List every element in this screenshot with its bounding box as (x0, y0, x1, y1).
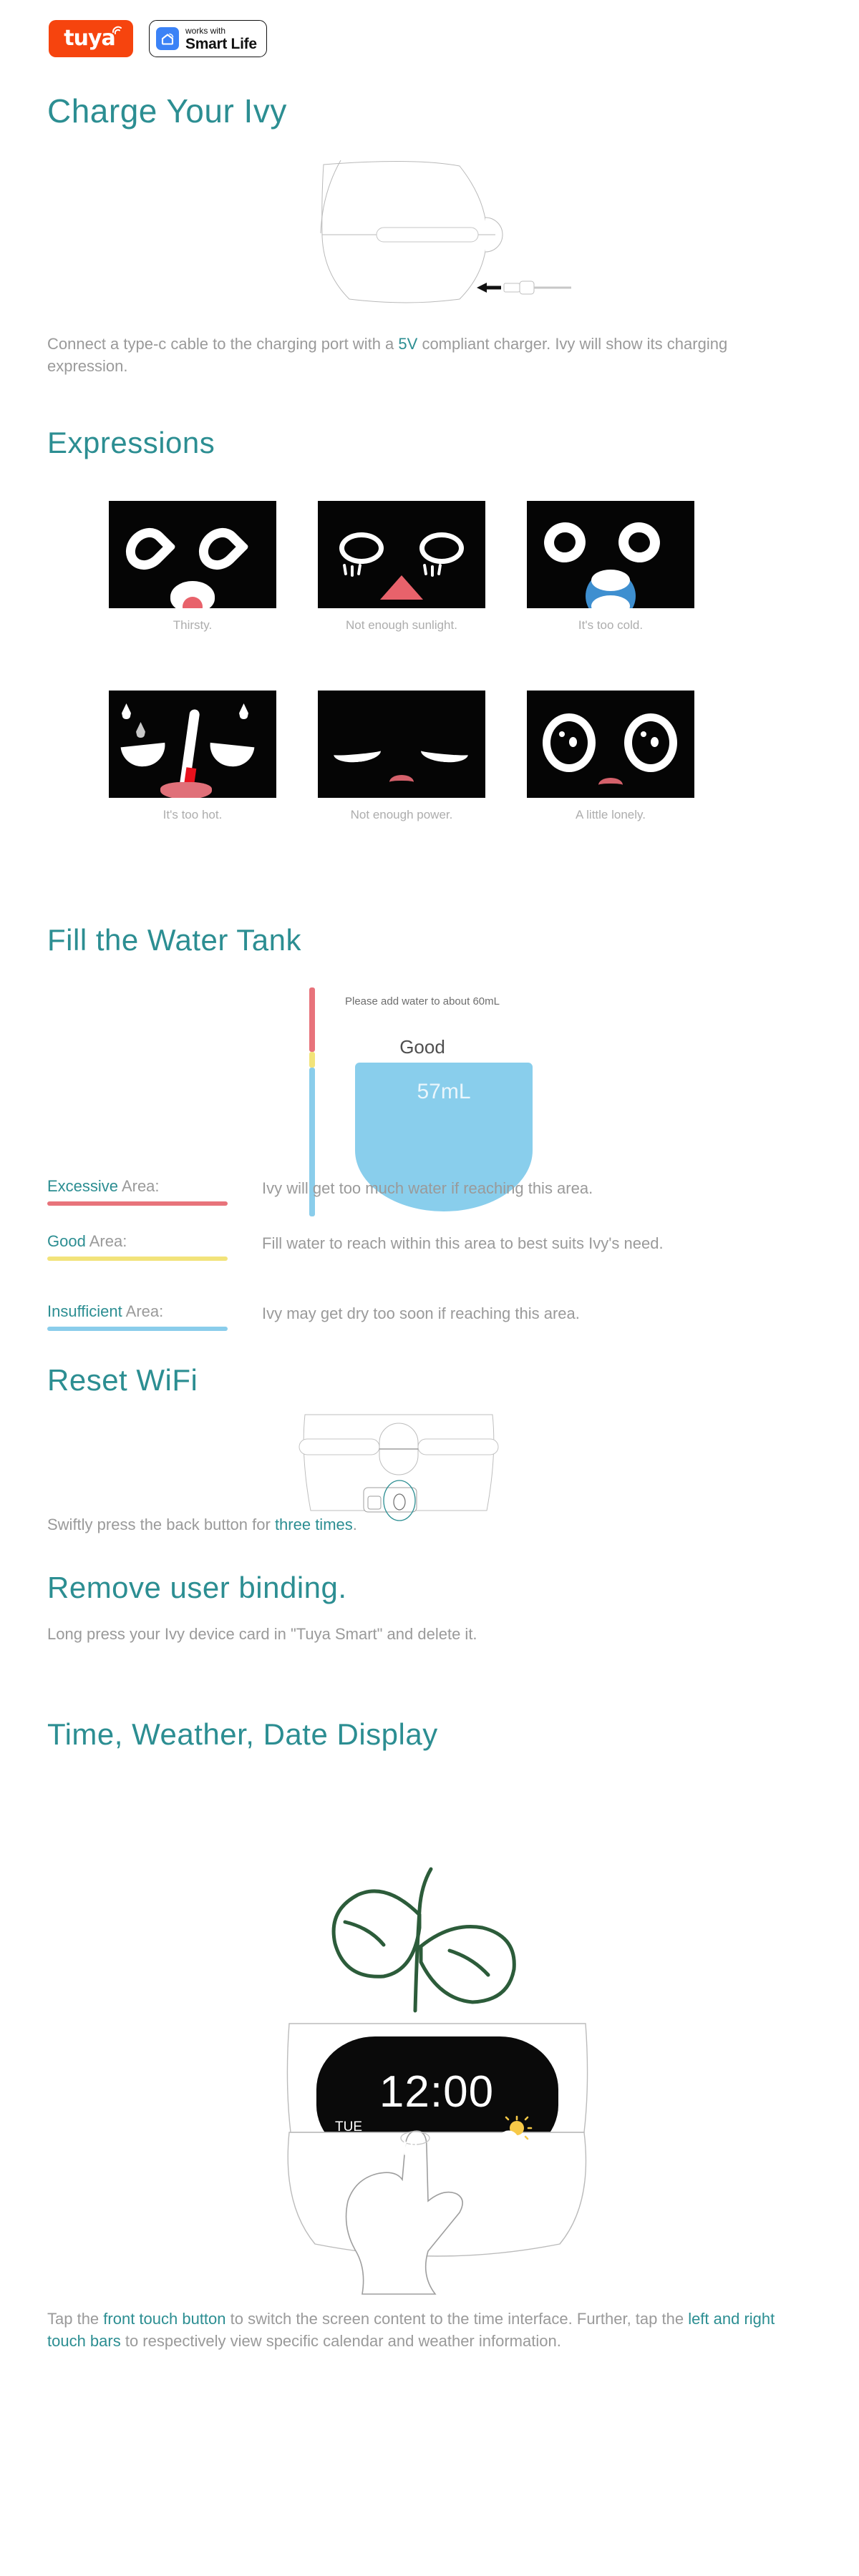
legend-accent: Excessive (47, 1177, 118, 1195)
legend-underline-excessive (47, 1201, 228, 1206)
lash-right-3 (437, 564, 442, 575)
closed-eye-left (333, 741, 382, 764)
legend-label-good: Good Area: (47, 1232, 262, 1254)
charge-voltage-accent: 5V (398, 335, 417, 353)
water-good-label: Good (329, 1036, 515, 1058)
face-low-power (318, 691, 485, 798)
legend-desc-good: Fill water to reach within this area to … (262, 1232, 806, 1254)
clock-time: 12:00 (322, 2067, 551, 2117)
lash-left-2 (351, 565, 354, 577)
eye-glint-right-2 (651, 737, 659, 747)
mouth-frown (598, 778, 623, 792)
sweat-drop-3 (239, 703, 248, 719)
clock-date: 20th-Sept. (335, 2134, 424, 2156)
expression-caption: It's too cold. (527, 618, 694, 633)
legend-desc-insufficient: Ivy may get dry too soon if reaching thi… (262, 1302, 806, 1324)
arc-eye-left (121, 743, 168, 769)
legend-rest: Area: (118, 1177, 159, 1195)
expression-lonely: A little lonely. (527, 691, 694, 822)
insert-arrow-icon (477, 283, 501, 293)
remove-binding-description: Long press your Ivy device card in "Tuya… (47, 1623, 777, 1645)
eye-glint-left-1 (559, 731, 565, 737)
lash-left-1 (343, 564, 347, 575)
face-too-hot (109, 691, 276, 798)
display-desc-part2: to switch the screen content to the time… (226, 2310, 689, 2328)
arc-eye-right (208, 743, 255, 769)
wifi-icon (112, 26, 123, 36)
reset-desc-accent: three times (275, 1516, 353, 1533)
eye-glint-left-2 (569, 737, 577, 747)
display-desc-part1: Tap the (47, 2310, 103, 2328)
teardrop-eye-left (117, 519, 176, 578)
reset-desc-part2: . (353, 1516, 357, 1533)
expressions-row-2: It's too hot. Not enough power. (109, 691, 694, 822)
smart-life-label: Smart Life (185, 36, 257, 52)
cold-teeth-top (591, 570, 630, 591)
mouth-triangle-red (380, 575, 423, 600)
expression-caption: Not enough power. (318, 808, 485, 822)
crescent-eye-right (615, 519, 664, 567)
oval-eye-left (339, 532, 384, 564)
teardrop-eye-right (190, 519, 249, 578)
pupil-left (550, 721, 588, 764)
water-tank-section-title: Fill the Water Tank (47, 923, 301, 957)
back-button-icon (394, 1494, 405, 1510)
expression-caption: It's too hot. (109, 808, 276, 822)
clock-day-of-week: TUE (335, 2119, 362, 2135)
expression-low-power: Not enough power. (318, 691, 485, 822)
legend-accent: Good (47, 1232, 86, 1250)
lash-right-2 (431, 565, 434, 577)
legend-row-insufficient: Insufficient Area: Ivy may get dry too s… (47, 1302, 806, 1324)
expression-caption: Thirsty. (109, 618, 276, 633)
plant-icon (334, 1869, 514, 2011)
display-desc-accent1: front touch button (103, 2310, 225, 2328)
expression-caption: Not enough sunlight. (318, 618, 485, 633)
remove-binding-section-title: Remove user binding. (47, 1571, 347, 1605)
time-display-illustration (236, 1775, 637, 2304)
tuya-logo: tuya (49, 20, 133, 57)
big-eye-left (543, 713, 596, 772)
display-section-title: Time, Weather, Date Display (47, 1717, 438, 1752)
sweat-drop-1 (122, 703, 131, 719)
crescent-eye-left (540, 519, 589, 567)
expression-caption: A little lonely. (527, 808, 694, 822)
eye-glint-right-1 (641, 731, 646, 737)
sun-cloud-icon (490, 2117, 534, 2155)
water-volume: 57mL (417, 1080, 470, 1104)
face-thirsty (109, 501, 276, 608)
works-with-smart-life-badge: works with Smart Life (149, 20, 267, 57)
display-description: Tap the front touch button to switch the… (47, 2308, 792, 2352)
legend-label-excessive: Excessive Area: (47, 1177, 262, 1199)
mouth-frown (389, 775, 414, 789)
lash-left-3 (357, 564, 361, 575)
expression-no-sunlight: Not enough sunlight. (318, 501, 485, 633)
brand-logos: tuya works with Smart Life (49, 20, 267, 57)
oval-eye-right (419, 532, 464, 564)
face-lonely (527, 691, 694, 798)
legend-rest: Area: (86, 1232, 127, 1250)
expressions-row-1: Thirsty. Not enough sunlight. (109, 501, 694, 633)
gauge-excessive (309, 987, 315, 1052)
charge-section-title: Charge Your Ivy (47, 92, 287, 130)
reset-wifi-description: Swiftly press the back button for three … (47, 1513, 777, 1536)
pupil-right (632, 721, 669, 764)
manual-page: tuya works with Smart Life Charge Your I… (0, 0, 859, 2576)
legend-label-insufficient: Insufficient Area: (47, 1302, 262, 1324)
expression-thirsty: Thirsty. (109, 501, 276, 633)
reset-desc-part1: Swiftly press the back button for (47, 1516, 275, 1533)
face-no-sunlight (318, 501, 485, 608)
legend-row-excessive: Excessive Area: Ivy will get too much wa… (47, 1177, 806, 1199)
legend-underline-good (47, 1257, 228, 1261)
face-too-cold (527, 501, 694, 608)
big-eye-right (624, 713, 677, 772)
reset-wifi-section-title: Reset WiFi (47, 1363, 198, 1397)
water-note: Please add water to about 60mL (329, 995, 515, 1009)
expression-too-hot: It's too hot. (109, 691, 276, 822)
display-desc-part3: to respectively view specific calendar a… (121, 2332, 561, 2350)
charge-description: Connect a type-c cable to the charging p… (47, 333, 777, 377)
expressions-section-title: Expressions (47, 426, 215, 460)
home-wifi-icon (156, 27, 179, 50)
charge-desc-part1: Connect a type-c cable to the charging p… (47, 335, 398, 353)
legend-desc-excessive: Ivy will get too much water if reaching … (262, 1177, 806, 1199)
works-with-label: works with (185, 26, 257, 35)
gauge-good (309, 1052, 315, 1068)
legend-underline-insufficient (47, 1327, 228, 1331)
legend-row-good: Good Area: Fill water to reach within th… (47, 1232, 806, 1254)
charging-device-illustration (272, 150, 573, 315)
closed-eye-right (420, 741, 469, 764)
sweat-drop-2 (136, 722, 145, 738)
legend-rest: Area: (122, 1302, 163, 1320)
tuya-logo-text: tuya (64, 28, 118, 49)
legend-accent: Insufficient (47, 1302, 122, 1320)
mouth-hot (160, 782, 212, 798)
reset-wifi-illustration (295, 1413, 503, 1513)
lash-right-1 (423, 564, 427, 575)
expression-too-cold: It's too cold. (527, 501, 694, 633)
